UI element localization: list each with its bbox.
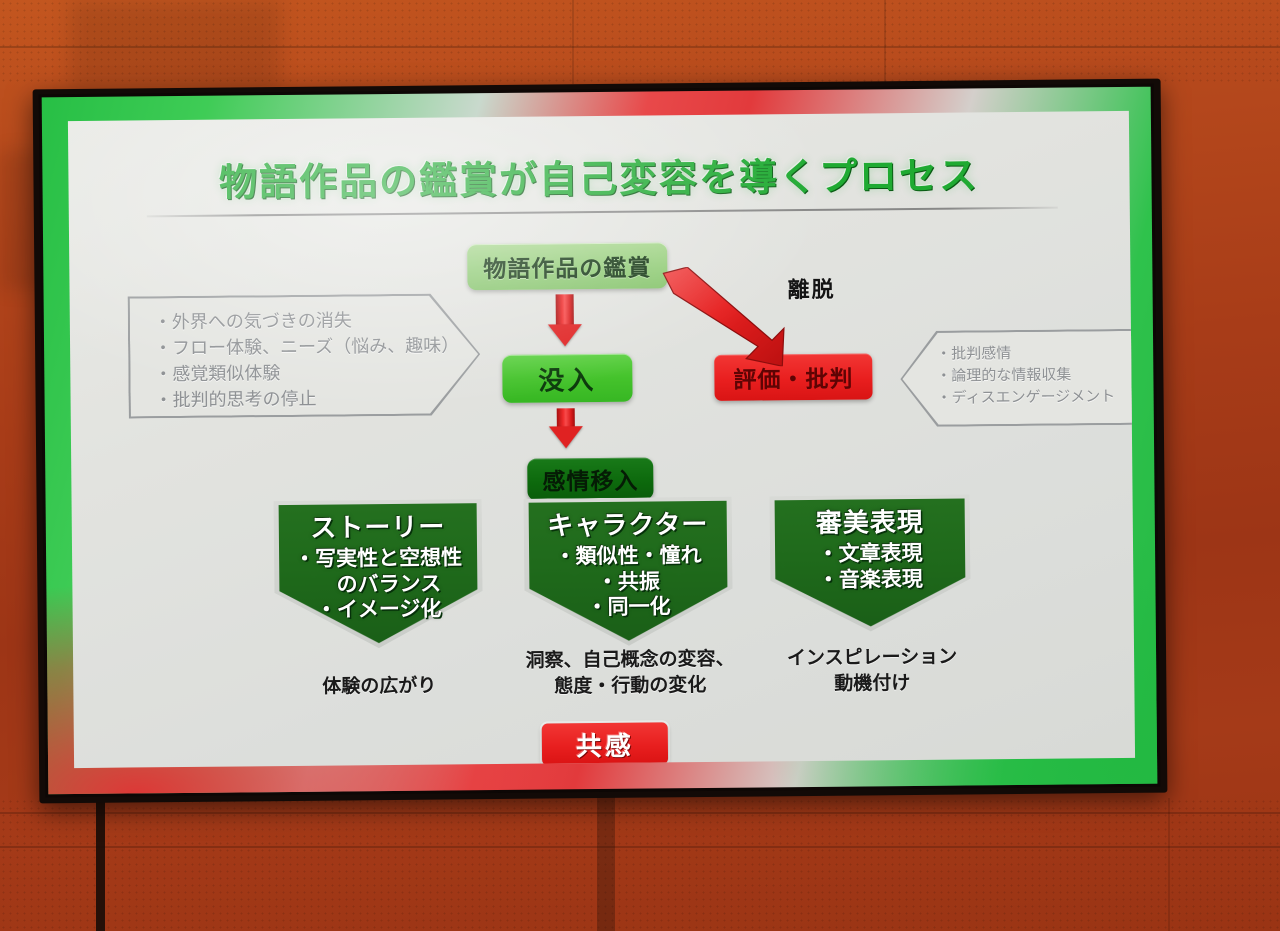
list-item: ・同一化 — [524, 594, 732, 622]
arrow-diagonal-to-evaluation — [659, 266, 790, 367]
factor-box-character[interactable]: キャラクター ・類似性・憧れ ・共振 ・同一化 — [524, 497, 733, 647]
caption-character-line2: 態度・行動の変化 — [499, 672, 761, 700]
node-immersion[interactable]: 没入 — [502, 354, 632, 403]
factor-box-character-content: キャラクター ・類似性・憧れ ・共振 ・同一化 — [524, 497, 733, 622]
factor-box-character-heading: キャラクター — [524, 511, 732, 543]
callout-evaluation-conditions: ・批判感情 ・論理的な情報収集 ・ディスエンゲージメント — [900, 329, 1135, 427]
caption-story: 体験の広がり — [269, 673, 489, 701]
list-item: ・外界への気づきの消失 — [154, 307, 480, 336]
list-item: ・文章表現 — [770, 540, 970, 568]
list-item: ・論理的な情報収集 — [936, 363, 1135, 387]
caption-character: 洞察、自己概念の変容、 態度・行動の変化 — [499, 646, 761, 700]
list-item: ・感覚類似体験 — [154, 359, 480, 388]
wall-panel-line-c — [1168, 798, 1170, 931]
monitor-bezel: 物語作品の鑑賞が自己変容を導くプロセス 物語作品の鑑賞 — [39, 84, 1161, 798]
list-item: ・フロー体験、ニーズ（悩み、趣味） — [154, 333, 480, 362]
factor-box-aesthetic-heading: 審美表現 — [770, 508, 970, 540]
factor-box-story[interactable]: ストーリー ・写実性と空想性 のバランス ・イメージ化 — [274, 499, 483, 649]
factor-box-aesthetic-list: ・文章表現 ・音楽表現 — [770, 540, 970, 593]
wall-seam-lower — [0, 812, 1280, 814]
caption-aesthetic-line2: 動機付け — [761, 670, 983, 698]
wall-seam-baseboard — [0, 846, 1280, 848]
slide-gradient-border: 物語作品の鑑賞が自己変容を導くプロセス 物語作品の鑑賞 — [42, 87, 1158, 795]
node-emotional-involvement[interactable]: 感情移入 — [527, 457, 653, 500]
wall-texture-bottom — [0, 798, 1280, 931]
list-item: ・共振 — [524, 568, 732, 596]
wall-panel-line-b — [884, 0, 886, 84]
callout-immersion-conditions: ・外界への気づきの消失 ・フロー体験、ニーズ（悩み、趣味） ・感覚類似体験 ・批… — [128, 293, 481, 418]
list-item: ・批判感情 — [936, 342, 1135, 366]
factor-box-story-list: ・写実性と空想性 のバランス ・イメージ化 — [274, 545, 483, 624]
node-story-appreciation[interactable]: 物語作品の鑑賞 — [467, 242, 667, 290]
presentation-slide: 物語作品の鑑賞が自己変容を導くプロセス 物語作品の鑑賞 — [68, 111, 1135, 768]
wall-shadow-left — [70, 0, 280, 92]
factor-box-character-list: ・類似性・憧れ ・共振 ・同一化 — [524, 543, 733, 622]
list-item: のバランス — [274, 571, 482, 599]
title-divider — [147, 207, 1058, 218]
wall-panel-line-a — [572, 0, 574, 84]
factor-box-aesthetic-content: 審美表現 ・文章表現 ・音楽表現 — [770, 494, 971, 593]
node-empathy-result[interactable]: 共感 — [542, 722, 668, 765]
list-item: ・批判的思考の停止 — [154, 385, 480, 414]
caption-aesthetic-line1: インスピレーション — [761, 644, 983, 672]
list-item: ・イメージ化 — [274, 596, 482, 624]
display-monitor: 物語作品の鑑賞が自己変容を導くプロセス 物語作品の鑑賞 — [33, 79, 1168, 804]
stand-pole-left — [96, 790, 105, 931]
edge-label-disengage: 離脱 — [787, 272, 835, 304]
room-background: 物語作品の鑑賞が自己変容を導くプロセス 物語作品の鑑賞 — [0, 0, 1280, 931]
caption-character-line1: 洞察、自己概念の変容、 — [499, 646, 761, 674]
callout-left-list: ・外界への気づきの消失 ・フロー体験、ニーズ（悩み、趣味） ・感覚類似体験 ・批… — [128, 293, 481, 415]
page-title: 物語作品の鑑賞が自己変容を導くプロセス — [68, 143, 1129, 208]
arrow-down-to-immersion-head — [548, 324, 582, 346]
caption-aesthetic: インスピレーション 動機付け — [761, 644, 983, 697]
factor-box-story-heading: ストーリー — [274, 513, 482, 545]
arrow-down-to-empathy-head — [549, 426, 583, 448]
factor-box-aesthetic[interactable]: 審美表現 ・文章表現 ・音楽表現 — [770, 494, 971, 632]
factor-box-story-content: ストーリー ・写実性と空想性 のバランス ・イメージ化 — [274, 499, 483, 624]
list-item: ・音楽表現 — [770, 566, 970, 594]
stand-pole-center — [597, 790, 615, 931]
list-item: ・ディスエンゲージメント — [936, 385, 1135, 409]
list-item: ・写実性と空想性 — [274, 545, 482, 573]
callout-right-list: ・批判感情 ・論理的な情報収集 ・ディスエンゲージメント — [900, 329, 1135, 410]
list-item: ・類似性・憧れ — [524, 543, 732, 571]
